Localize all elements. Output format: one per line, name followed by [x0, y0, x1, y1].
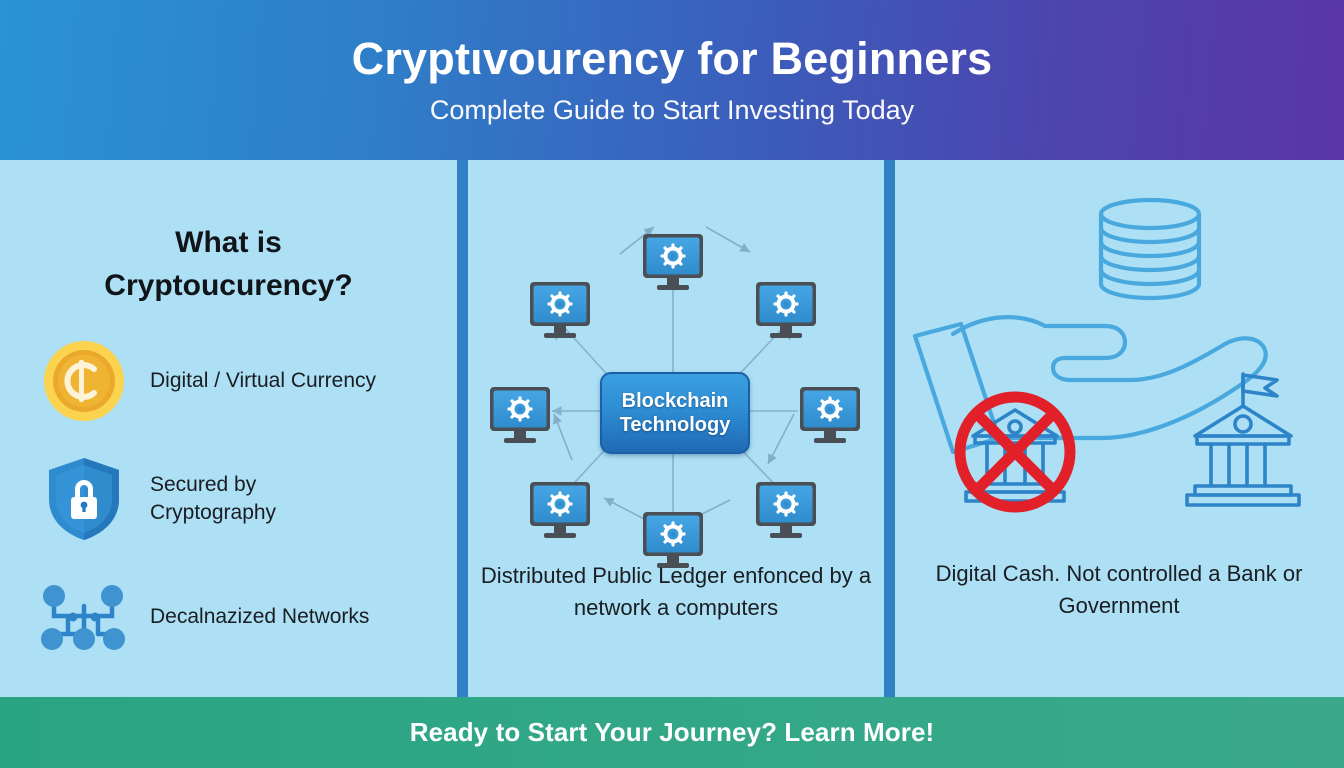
- panel-digital-cash: Digital Cash. Not controlled a Bank or G…: [895, 160, 1344, 697]
- blockchain-label-line1: Blockchain: [622, 390, 729, 412]
- middle-panel-caption: Distributed Public Ledger enfonced by a …: [476, 560, 876, 624]
- hand-holding-coins-icon: [915, 200, 1266, 452]
- content-area: What is Cryptoucurency?: [0, 160, 1344, 697]
- panel-divider-right: [884, 160, 895, 697]
- blockchain-center-label: Blockchain Technology: [620, 389, 731, 437]
- feature-list: Digital / Virtual Currency: [36, 342, 456, 696]
- feature-item-cryptography: Secured by Cryptography: [36, 460, 456, 538]
- coin-icon: [36, 342, 132, 420]
- infographic-page: Cryptιvourency for Beginners Complete Gu…: [0, 0, 1344, 768]
- left-panel-heading: What is Cryptoucurency?: [0, 222, 457, 307]
- panel-blockchain: Blockchain Technology Distributed Public…: [468, 160, 884, 697]
- bank-prohibited-icon: [960, 397, 1070, 507]
- footer-cta-bar[interactable]: Ready to Start Your Journey? Learn More!: [0, 697, 1344, 768]
- blockchain-label-line2: Technology: [620, 414, 731, 436]
- left-heading-line1: What is: [175, 226, 282, 259]
- feature-label-decentralized: Decalnazized Networks: [150, 603, 369, 631]
- header-banner: Cryptιvourency for Beginners Complete Gu…: [0, 0, 1344, 160]
- right-panel-illustrations: [895, 184, 1344, 554]
- blockchain-network-diagram: Blockchain Technology: [468, 182, 884, 572]
- page-title: Cryptιvourency for Beginners: [352, 36, 993, 81]
- blockchain-center-box: Blockchain Technology: [600, 372, 750, 454]
- feature-item-currency: Digital / Virtual Currency: [36, 342, 456, 420]
- feature-label-cryptography-l1: Secured by: [150, 473, 256, 496]
- right-panel-caption: Digital Cash. Not controlled a Bank or G…: [909, 558, 1329, 622]
- feature-label-currency: Digital / Virtual Currency: [150, 367, 376, 395]
- shield-lock-icon: [36, 460, 132, 538]
- panel-what-is-crypto: What is Cryptoucurency?: [0, 160, 457, 697]
- footer-cta-text[interactable]: Ready to Start Your Journey? Learn More!: [410, 717, 935, 748]
- feature-label-cryptography: Secured by Cryptography: [150, 471, 276, 526]
- feature-label-cryptography-l2: Cryptography: [150, 501, 276, 524]
- page-subtitle: Complete Guide to Start Investing Today: [430, 97, 914, 124]
- network-nodes-icon: [36, 578, 132, 656]
- panel-divider-left: [457, 160, 468, 697]
- left-heading-line2: Cryptoucurency?: [104, 269, 352, 302]
- government-building-icon: [1187, 374, 1299, 505]
- feature-item-decentralized: Decalnazized Networks: [36, 578, 456, 656]
